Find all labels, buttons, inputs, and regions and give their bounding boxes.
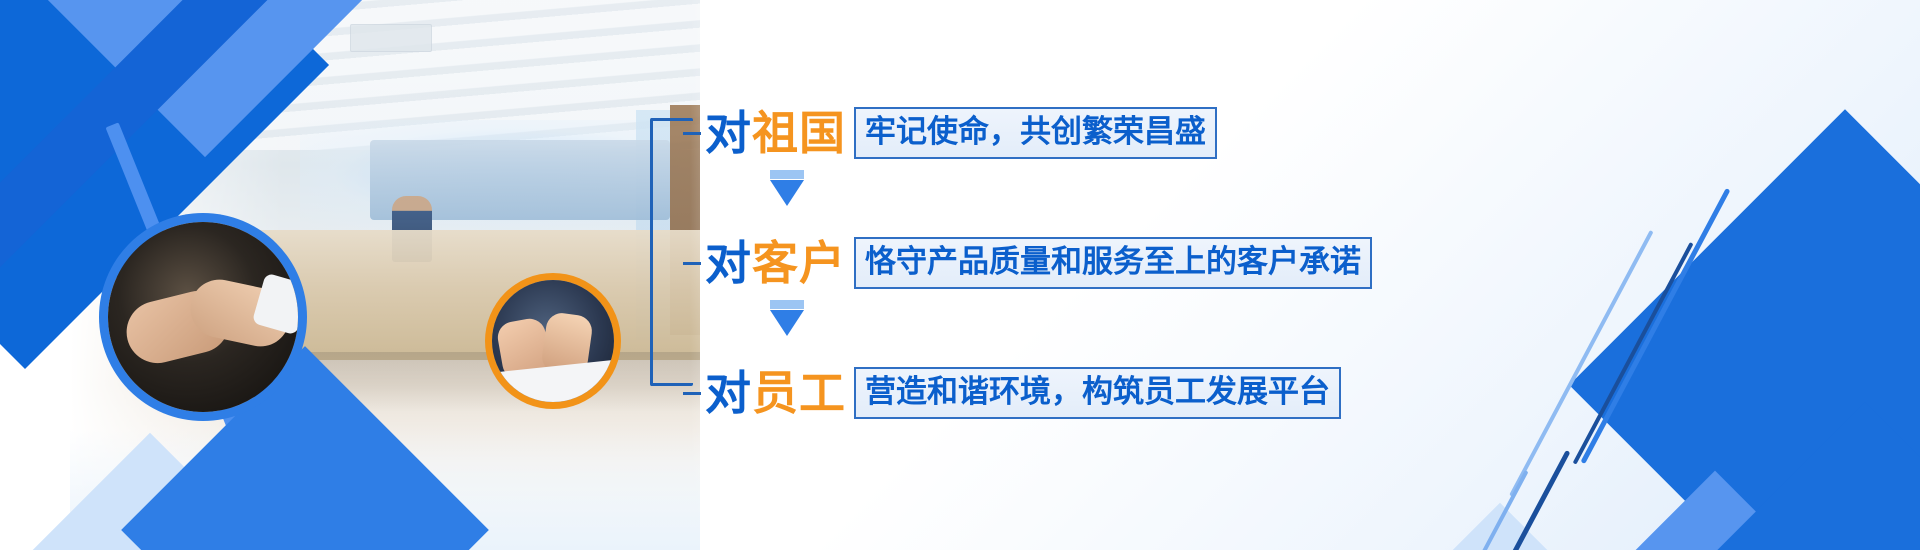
arrow-down-icon-1 xyxy=(770,170,804,206)
handshake-circle-photo xyxy=(108,222,298,412)
reception-desk xyxy=(250,230,700,360)
heading-prefix: 对 xyxy=(705,107,752,159)
values-content: 对祖国 牢记使命，共创繁荣昌盛 对客户 恪守产品质量和服务至上的客户承诺 对员工… xyxy=(650,70,1390,410)
heading-keyword: 祖国 xyxy=(752,107,846,159)
heading-keyword: 员工 xyxy=(752,367,846,419)
heading-country: 对祖国 xyxy=(705,108,846,158)
row-dash-icon xyxy=(683,262,701,265)
heading-keyword: 客户 xyxy=(752,237,846,289)
thumbsup-circle-photo xyxy=(492,280,614,402)
arrow-cap xyxy=(770,170,804,179)
heading-prefix: 对 xyxy=(705,367,752,419)
heading-employee: 对员工 xyxy=(705,368,846,418)
row-dash-icon xyxy=(683,392,701,395)
arrow-cap xyxy=(770,300,804,309)
heading-prefix: 对 xyxy=(705,237,752,289)
slogan-customer: 恪守产品质量和服务至上的客户承诺 xyxy=(854,237,1372,289)
value-row-customer: 对客户 恪守产品质量和服务至上的客户承诺 xyxy=(683,233,1372,293)
heading-customer: 对客户 xyxy=(705,238,846,288)
arrow-down-icon-2 xyxy=(770,300,804,336)
slogan-country: 牢记使命，共创繁荣昌盛 xyxy=(854,107,1217,159)
office-photo-area: 宏森环保 HONGSEN ENVIRONMENTAL PROTECTION xyxy=(0,0,700,550)
slogan-employee: 营造和谐环境，构筑员工发展平台 xyxy=(854,367,1341,419)
arrow-triangle xyxy=(770,180,804,206)
corporate-values-banner: 宏森环保 HONGSEN ENVIRONMENTAL PROTECTION xyxy=(0,0,1920,550)
row-dash-icon xyxy=(683,132,701,135)
value-row-country: 对祖国 牢记使命，共创繁荣昌盛 xyxy=(683,103,1217,163)
decor-diamond-right-pale xyxy=(1373,503,1628,550)
value-row-employee: 对员工 营造和谐环境，构筑员工发展平台 xyxy=(683,363,1341,423)
arrow-triangle xyxy=(770,310,804,336)
ceiling-panel xyxy=(350,24,432,52)
